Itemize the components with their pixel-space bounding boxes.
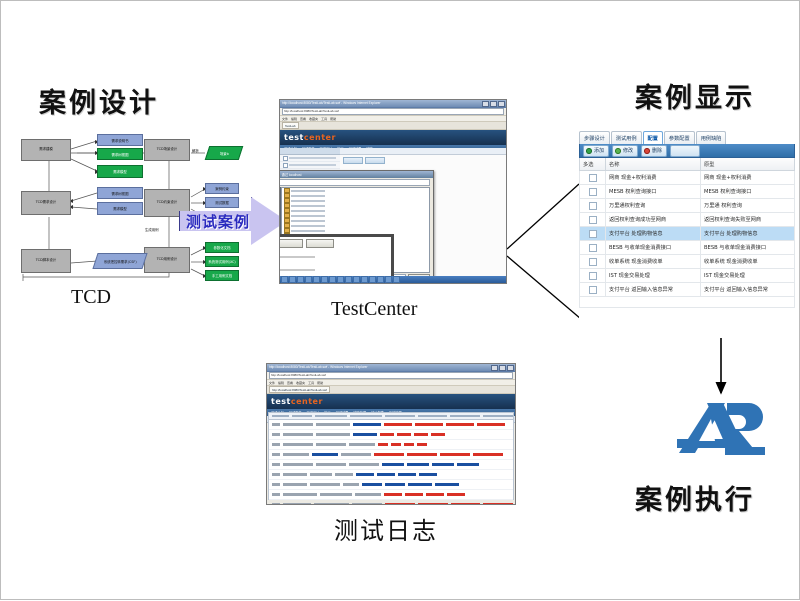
window-titlebar: http://localhost:8080/TestLab/TestLab.sw… bbox=[280, 100, 506, 108]
upload-status-row bbox=[279, 250, 391, 263]
log-grid-header bbox=[269, 413, 513, 420]
edit-button-label: 修改 bbox=[623, 147, 633, 154]
tcd-node-n3: TCD脚本设计 bbox=[21, 249, 71, 273]
window-controls[interactable] bbox=[482, 101, 505, 107]
tcd-doc-1: 需求树视图 bbox=[97, 148, 143, 160]
upload-status-text bbox=[279, 256, 315, 258]
tcd-doc-5: 案例约束 bbox=[205, 183, 239, 194]
table-row[interactable]: 返回权利查询成功至网商返回权利查询失败至网商 bbox=[580, 213, 795, 227]
heading-case-display: 案例显示 bbox=[635, 76, 755, 115]
caption-test-log: 测试日志 bbox=[334, 511, 438, 546]
slide-canvas: 案例设计 案例显示 案例执行 bbox=[0, 0, 800, 600]
row-checkbox-cell[interactable] bbox=[580, 185, 606, 199]
taskbar-item[interactable] bbox=[313, 276, 320, 283]
caption-tcd: TCD bbox=[71, 286, 111, 309]
row-checkbox[interactable] bbox=[589, 244, 597, 252]
table-row[interactable]: MESB 权利查询接口MESB 权利查询接口 bbox=[580, 185, 795, 199]
taskbar-item[interactable] bbox=[329, 276, 336, 283]
log-col-6 bbox=[450, 415, 480, 417]
tcd-doc-2: 需求模型 bbox=[97, 165, 143, 178]
test-case-arrow: 测试案例 bbox=[179, 197, 287, 245]
maximize-icon[interactable] bbox=[490, 101, 497, 107]
taskbar-item[interactable] bbox=[337, 276, 344, 283]
testcenter-window[interactable]: http://localhost:8080/TestLab/TestLab.sw… bbox=[279, 99, 507, 284]
menu-view[interactable]: 查看 bbox=[287, 381, 293, 385]
tcd-node-n4: TCD场景设计 bbox=[144, 139, 190, 161]
col-header-select: 多选 bbox=[580, 158, 606, 171]
log-col-1 bbox=[292, 415, 313, 417]
log-row[interactable] bbox=[269, 490, 513, 500]
menu-file[interactable]: 文件 bbox=[269, 381, 275, 385]
delete-icon bbox=[644, 148, 650, 154]
taskbar-item[interactable] bbox=[361, 276, 368, 283]
taskbar-item[interactable] bbox=[353, 276, 360, 283]
tcd-edge-label-1: 生成用例 bbox=[145, 227, 159, 232]
table-row-selected[interactable]: 支付平台 处理购物信息支付平台 处理购物信息 bbox=[580, 227, 795, 241]
row-name: BESB 与收单现金消费接口 bbox=[606, 241, 701, 255]
log-col-4 bbox=[385, 415, 415, 417]
add-button-label: 添加 bbox=[594, 147, 604, 154]
upload-progress-text bbox=[279, 269, 315, 271]
menu-favorites[interactable]: 收藏夹 bbox=[309, 117, 318, 121]
tree-item-text bbox=[289, 157, 336, 159]
col-header-name: 名称 bbox=[606, 158, 701, 171]
tab-config[interactable]: 配置 bbox=[643, 131, 663, 144]
log-row[interactable] bbox=[269, 460, 513, 470]
arrow-label: 测试案例 bbox=[183, 210, 253, 232]
row-checkbox[interactable] bbox=[589, 286, 597, 294]
row-checkbox-cell[interactable] bbox=[580, 269, 606, 283]
row-checkbox[interactable] bbox=[589, 202, 597, 210]
log-row[interactable] bbox=[269, 470, 513, 480]
testcenter-logo: testcenter bbox=[284, 133, 336, 142]
caption-testcenter: TestCenter bbox=[331, 298, 417, 321]
row-proto: BESB 与收单现金消费接口 bbox=[701, 241, 795, 255]
tcd-para-1: 系统把控转需求(CSF) bbox=[92, 253, 147, 269]
log-window-titlebar: http://localhost:8080/TestLab/TestLab.sw… bbox=[267, 364, 515, 372]
close-icon[interactable] bbox=[507, 365, 514, 371]
delete-button[interactable]: 删除 bbox=[641, 145, 667, 157]
row-name: 支付平台 返回输入信息异常 bbox=[606, 283, 701, 297]
look-in-select[interactable] bbox=[279, 179, 430, 186]
table-row[interactable]: BESB 与收单现金消费接口BESB 与收单现金消费接口 bbox=[580, 241, 795, 255]
start-button[interactable] bbox=[281, 276, 288, 283]
table-row[interactable]: IST 现金交易处理IST 现金交易处理 bbox=[580, 269, 795, 283]
log-col-0 bbox=[272, 415, 289, 417]
row-checkbox[interactable] bbox=[589, 216, 597, 224]
log-browser-tab[interactable]: http://localhost:8080/TestLab/TestLab.sw… bbox=[269, 386, 330, 394]
tcd-para-0: 场景b bbox=[205, 146, 244, 160]
log-window-controls[interactable] bbox=[491, 365, 514, 371]
browser-tab[interactable]: TestLab bbox=[282, 122, 299, 130]
file-name bbox=[291, 210, 325, 212]
log-row[interactable] bbox=[269, 440, 513, 450]
table-row[interactable]: 收单系统 现金消费收单收单系统 现金消费收单 bbox=[580, 255, 795, 269]
tcd-para-0-label: 场景b bbox=[220, 151, 229, 156]
tree-checkbox[interactable] bbox=[283, 156, 288, 161]
look-in-row[interactable] bbox=[279, 178, 433, 187]
row-checkbox[interactable] bbox=[589, 188, 597, 196]
cancel-upload-button[interactable] bbox=[306, 239, 334, 248]
maximize-icon[interactable] bbox=[499, 365, 506, 371]
row-checkbox-cell[interactable] bbox=[580, 283, 606, 297]
tcd-doc-10: 手工用例文档 bbox=[205, 270, 239, 281]
windows-taskbar[interactable] bbox=[280, 276, 506, 283]
results-table-header-row: 多选 名称 原型 bbox=[580, 158, 795, 171]
taskbar-item[interactable] bbox=[305, 276, 312, 283]
close-icon[interactable] bbox=[498, 101, 505, 107]
log-row[interactable] bbox=[269, 480, 513, 490]
tcd-doc-3: 需求树视图 bbox=[97, 187, 143, 199]
log-brand-first: test bbox=[271, 397, 291, 406]
row-name: 网商 现金+权利消费 bbox=[606, 171, 701, 185]
detail-panel-header bbox=[340, 148, 506, 155]
taskbar-item[interactable] bbox=[289, 276, 296, 283]
delete-button-label: 删除 bbox=[652, 147, 662, 154]
log-row[interactable] bbox=[269, 420, 513, 430]
ar-logo bbox=[677, 401, 769, 461]
testcenter-brand-header: testcenter bbox=[280, 130, 506, 145]
row-proto: 万里通 权利查询 bbox=[701, 199, 795, 213]
row-checkbox-cell[interactable] bbox=[580, 255, 606, 269]
log-browser-tab-strip[interactable]: http://localhost:8080/TestLab/TestLab.sw… bbox=[267, 386, 515, 394]
add-icon bbox=[586, 148, 592, 154]
log-row[interactable] bbox=[269, 500, 513, 505]
testcenter-content: 选择要上载的文件，通过 localhost bbox=[280, 148, 506, 276]
menu-help[interactable]: 帮助 bbox=[330, 117, 336, 121]
file-name bbox=[291, 230, 325, 232]
row-checkbox-cell[interactable] bbox=[580, 213, 606, 227]
log-col-7 bbox=[483, 415, 513, 417]
upload-file-button[interactable] bbox=[279, 239, 303, 248]
detail-panel-buttons[interactable] bbox=[340, 155, 506, 165]
address-input[interactable]: http://localhost:8080/TestLab/TestLab.sw… bbox=[282, 108, 504, 115]
row-name: MESB 权利查询接口 bbox=[606, 185, 701, 199]
row-checkbox-cell[interactable] bbox=[580, 241, 606, 255]
tcd-edge-label-0: 解析 bbox=[192, 148, 199, 153]
row-proto: MESB 权利查询接口 bbox=[701, 185, 795, 199]
browser-tab-strip[interactable]: TestLab bbox=[280, 122, 506, 130]
row-proto: 支付平台 处理购物信息 bbox=[701, 227, 795, 241]
menu-edit[interactable]: 编辑 bbox=[291, 117, 297, 121]
tab-case-defect[interactable]: 用例缺陷 bbox=[696, 131, 727, 144]
taskbar-item[interactable] bbox=[345, 276, 352, 283]
upload-progress-row bbox=[279, 263, 391, 276]
menu-tools[interactable]: 工具 bbox=[321, 117, 327, 121]
file-name bbox=[291, 200, 325, 202]
detail-button[interactable] bbox=[365, 157, 385, 164]
log-col-2 bbox=[315, 415, 347, 417]
minimize-icon[interactable] bbox=[491, 365, 498, 371]
heading-case-execution: 案例执行 bbox=[635, 478, 755, 517]
log-col-5 bbox=[418, 415, 448, 417]
log-brand-header: testcenter bbox=[267, 394, 515, 409]
file-name bbox=[291, 195, 325, 197]
table-row[interactable]: 支付平台 返回输入信息异常支付平台 返回输入信息异常 bbox=[580, 283, 795, 297]
brand-first: test bbox=[284, 133, 304, 142]
file-dialog-title: 选择要上载的文件，通过 localhost bbox=[279, 172, 302, 177]
row-proto: 返回权利查询失败至网商 bbox=[701, 213, 795, 227]
row-name: 返回权利查询成功至网商 bbox=[606, 213, 701, 227]
toolbar-extra-button[interactable] bbox=[670, 145, 700, 157]
row-name: 收单系统 现金消费收单 bbox=[606, 255, 701, 269]
row-name: 万里通权利查询 bbox=[606, 199, 701, 213]
row-proto: 网商 现金+权利消费 bbox=[701, 171, 795, 185]
menu-favorites[interactable]: 收藏夹 bbox=[296, 381, 305, 385]
tcd-node-n1: 需求建模 bbox=[21, 139, 71, 161]
log-address-bar[interactable]: http://localhost:8080/TestLab/TestLab.sw… bbox=[267, 372, 515, 380]
log-address-input[interactable]: http://localhost:8080/TestLab/TestLab.sw… bbox=[269, 372, 513, 379]
file-name bbox=[291, 215, 325, 217]
file-name bbox=[291, 220, 325, 222]
log-brand-second: center bbox=[291, 397, 323, 406]
menu-tools[interactable]: 工具 bbox=[308, 381, 314, 385]
log-window-title: http://localhost:8080/TestLab/TestLab.sw… bbox=[269, 365, 368, 369]
menu-view[interactable]: 查看 bbox=[300, 117, 306, 121]
menu-edit[interactable]: 编辑 bbox=[278, 381, 284, 385]
row-name: IST 现金交易处理 bbox=[606, 269, 701, 283]
taskbar-item[interactable] bbox=[297, 276, 304, 283]
row-checkbox-cell[interactable] bbox=[580, 199, 606, 213]
upload-buttons-row[interactable] bbox=[279, 237, 391, 250]
tcd-node-n2: TCD需求设计 bbox=[21, 191, 71, 215]
detail-button[interactable] bbox=[343, 157, 363, 164]
tab-step-design[interactable]: 步骤设计 bbox=[579, 131, 610, 144]
results-toolbar[interactable]: 添加 修改 删除 bbox=[579, 144, 795, 158]
tree-checkbox[interactable] bbox=[283, 163, 288, 168]
file-name bbox=[291, 225, 325, 227]
log-row[interactable] bbox=[269, 450, 513, 460]
taskbar-item[interactable] bbox=[393, 276, 400, 283]
test-log-window[interactable]: http://localhost:8080/TestLab/TestLab.sw… bbox=[266, 363, 516, 505]
tab-test-case[interactable]: 测试用例 bbox=[611, 131, 642, 144]
heading-case-design: 案例设计 bbox=[39, 81, 159, 120]
add-button[interactable]: 添加 bbox=[583, 145, 609, 157]
menu-help[interactable]: 帮助 bbox=[317, 381, 323, 385]
file-dialog-titlebar: 选择要上载的文件，通过 localhost bbox=[279, 171, 433, 178]
row-checkbox[interactable] bbox=[589, 258, 597, 266]
taskbar-item[interactable] bbox=[385, 276, 392, 283]
file-name bbox=[291, 205, 325, 207]
taskbar-item[interactable] bbox=[377, 276, 384, 283]
row-proto: IST 现金交易处理 bbox=[701, 269, 795, 283]
tcd-doc-9: 系统测试用例(XC) bbox=[205, 256, 239, 267]
row-proto: 支付平台 返回输入信息异常 bbox=[701, 283, 795, 297]
row-checkbox[interactable] bbox=[589, 174, 597, 182]
row-checkbox[interactable] bbox=[589, 272, 597, 280]
row-proto: 收单系统 现金消费收单 bbox=[701, 255, 795, 269]
log-grid[interactable] bbox=[268, 412, 514, 500]
tcd-doc-4: 需求模型 bbox=[97, 202, 143, 215]
tree-panel-header bbox=[280, 148, 340, 155]
results-tab-strip[interactable]: 步骤设计 测试用例 配置 参数配置 用例缺陷 bbox=[579, 131, 795, 144]
log-testcenter-logo: testcenter bbox=[271, 397, 323, 406]
tree-item[interactable] bbox=[280, 162, 340, 169]
tree-item[interactable] bbox=[280, 155, 340, 162]
tcd-para-1-label: 系统把控转需求(CSF) bbox=[104, 259, 137, 264]
tree-item-text bbox=[289, 164, 336, 166]
tcd-doc-0: 需求说明书 bbox=[97, 134, 143, 146]
row-checkbox[interactable] bbox=[589, 230, 597, 238]
menu-file[interactable]: 文件 bbox=[282, 117, 288, 121]
results-table-filler bbox=[579, 297, 795, 308]
col-header-proto: 原型 bbox=[701, 158, 795, 171]
tcd-node-n6: TCD用例设计 bbox=[144, 247, 190, 273]
results-panel[interactable]: 步骤设计 测试用例 配置 参数配置 用例缺陷 添加 修改 删除 多选 名称 原型… bbox=[579, 131, 795, 321]
row-checkbox-cell[interactable] bbox=[580, 227, 606, 241]
ar-logo-glyph bbox=[677, 401, 769, 461]
edit-icon bbox=[615, 148, 621, 154]
edit-button[interactable]: 修改 bbox=[612, 145, 638, 157]
row-name: 支付平台 处理购物信息 bbox=[606, 227, 701, 241]
brand-second: center bbox=[304, 133, 336, 142]
log-row[interactable] bbox=[269, 430, 513, 440]
tab-param-config[interactable]: 参数配置 bbox=[664, 131, 695, 144]
table-row[interactable]: 网商 现金+权利消费网商 现金+权利消费 bbox=[580, 171, 795, 185]
address-bar[interactable]: http://localhost:8080/TestLab/TestLab.sw… bbox=[280, 108, 506, 116]
taskbar-item[interactable] bbox=[369, 276, 376, 283]
file-name bbox=[291, 190, 325, 192]
minimize-icon[interactable] bbox=[482, 101, 489, 107]
taskbar-item[interactable] bbox=[321, 276, 328, 283]
log-col-3 bbox=[350, 415, 382, 417]
results-table: 多选 名称 原型 网商 现金+权利消费网商 现金+权利消费 MESB 权利查询接… bbox=[579, 158, 795, 297]
table-row[interactable]: 万里通权利查询万里通 权利查询 bbox=[580, 199, 795, 213]
window-title: http://localhost:8080/TestLab/TestLab.sw… bbox=[282, 101, 381, 105]
row-checkbox-cell[interactable] bbox=[580, 171, 606, 185]
